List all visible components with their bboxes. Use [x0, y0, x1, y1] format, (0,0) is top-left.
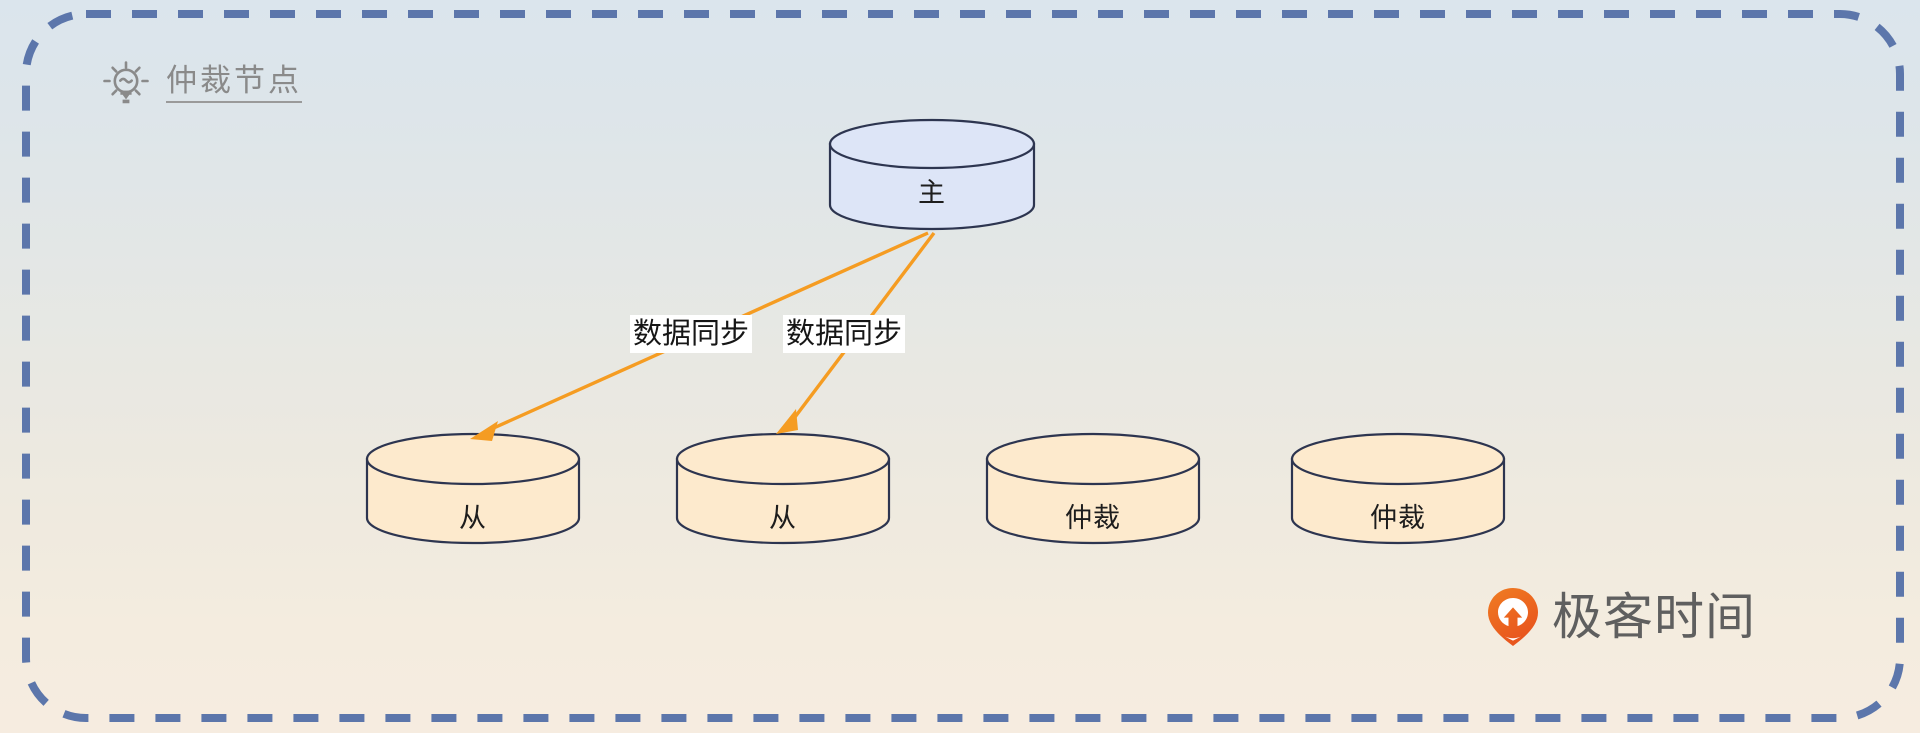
- edge-label-data-sync-1: 数据同步: [630, 315, 752, 353]
- watermark-label: 极客时间: [1552, 592, 1756, 642]
- geektime-pin-logo-icon: [1487, 587, 1539, 647]
- diagram-canvas: 仲裁节点 主 从 从 仲裁: [0, 0, 1920, 733]
- edge-label-data-sync-2: 数据同步: [783, 315, 905, 353]
- watermark: 极客时间: [1487, 587, 1756, 647]
